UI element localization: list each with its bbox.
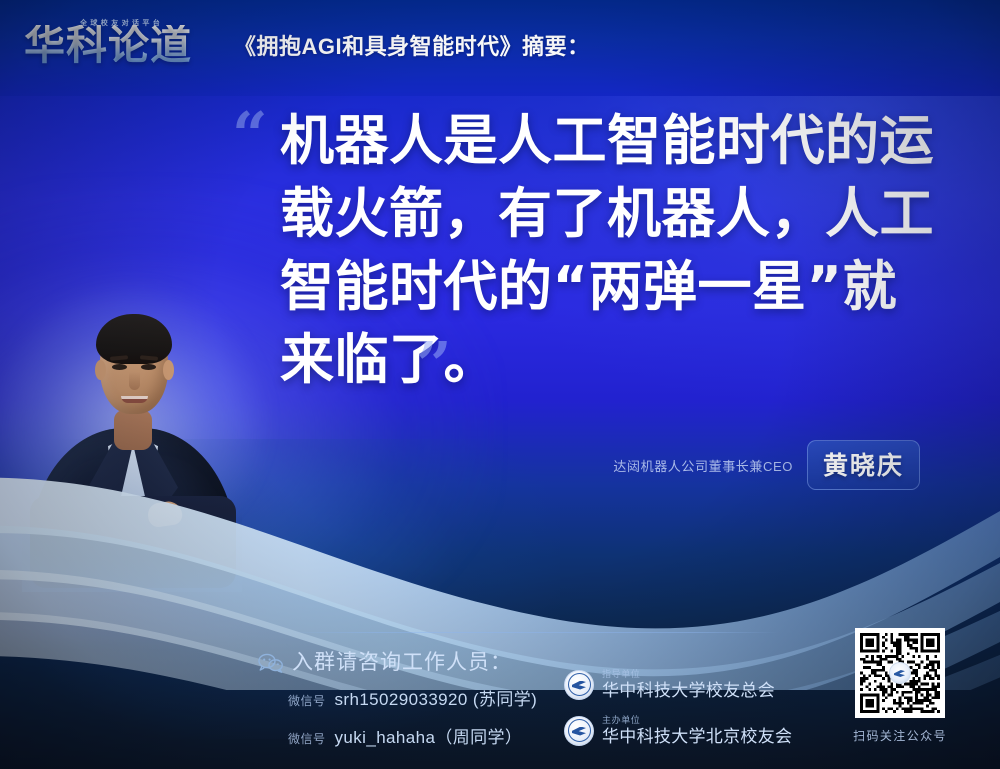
qr-caption: 扫码关注公众号: [840, 727, 960, 744]
portrait-nose: [129, 372, 140, 390]
quote-text: 机器人是人工智能时代的运载火箭，有了机器人，人工智能时代的“两弹一星”就来临了。: [280, 104, 940, 396]
speaker-name-badge: 黄晓庆: [807, 440, 920, 490]
page-title: 《拥抱AGI和具身智能时代》摘要：: [234, 29, 590, 61]
poster-canvas: 全球校友对话平台 华科论道 《拥抱AGI和具身智能时代》摘要： “ 机器人是人工…: [0, 0, 1000, 769]
wechat-icon: [258, 653, 284, 673]
hust-seal-icon: [564, 670, 594, 700]
portrait-hair: [96, 314, 172, 364]
qr-code-block: 扫码关注公众号: [840, 628, 960, 744]
header-bar: 全球校友对话平台 华科论道 《拥抱AGI和具身智能时代》摘要：: [0, 0, 1000, 90]
portrait-neck: [114, 410, 152, 450]
wechat-id-1: srh15029033920 (苏同学): [335, 685, 538, 710]
speaker-role: 达闼机器人公司董事长兼CEO: [613, 456, 793, 475]
organization-row: 主办单位 华中科技大学北京校友会: [564, 714, 812, 747]
qr-center-logo: [889, 662, 911, 684]
organizations-list: 指导单位 华中科技大学校友总会 主办单位 华中科技大学北京校友会: [564, 668, 812, 760]
speaker-portrait: [22, 282, 242, 572]
logo-wordmark: 华科论道: [24, 25, 192, 66]
portrait-ear-right: [163, 360, 174, 380]
footer-contact-section: 入群请咨询工作人员： 微信号 srh15029033920 (苏同学) 微信号 …: [252, 644, 812, 754]
contact-row-2: 微信号 yuki_hahaha（周同学）: [288, 723, 522, 748]
portrait-mouth: [121, 396, 148, 403]
organization-name: 华中科技大学北京校友会: [602, 726, 792, 747]
hust-seal-icon: [564, 716, 594, 746]
organization-row: 指导单位 华中科技大学校友总会: [564, 668, 812, 701]
portrait-eye-left: [112, 364, 127, 370]
contact-title: 入群请咨询工作人员：: [292, 646, 512, 676]
speaker-attribution: 达闼机器人公司董事长兼CEO 黄晓庆: [560, 440, 920, 490]
portrait-ear-left: [95, 360, 106, 380]
portrait-eye-right: [141, 364, 156, 370]
quote-open-mark: “: [232, 104, 268, 166]
organization-kicker: 指导单位: [602, 668, 775, 680]
contact-row-1: 微信号 srh15029033920 (苏同学): [288, 685, 537, 710]
wechat-label-2: 微信号: [288, 730, 326, 747]
qr-code-frame[interactable]: [855, 628, 945, 718]
quote-close-mark: ”: [416, 334, 452, 396]
brand-logo: 全球校友对话平台 华科论道: [24, 14, 214, 76]
wechat-id-2: yuki_hahaha（周同学）: [335, 723, 523, 748]
portrait-bottom-fade: [22, 512, 242, 592]
organization-name: 华中科技大学校友总会: [602, 680, 775, 701]
footer-divider: [288, 632, 780, 633]
organization-kicker: 主办单位: [602, 714, 792, 726]
wechat-label-1: 微信号: [288, 692, 326, 709]
